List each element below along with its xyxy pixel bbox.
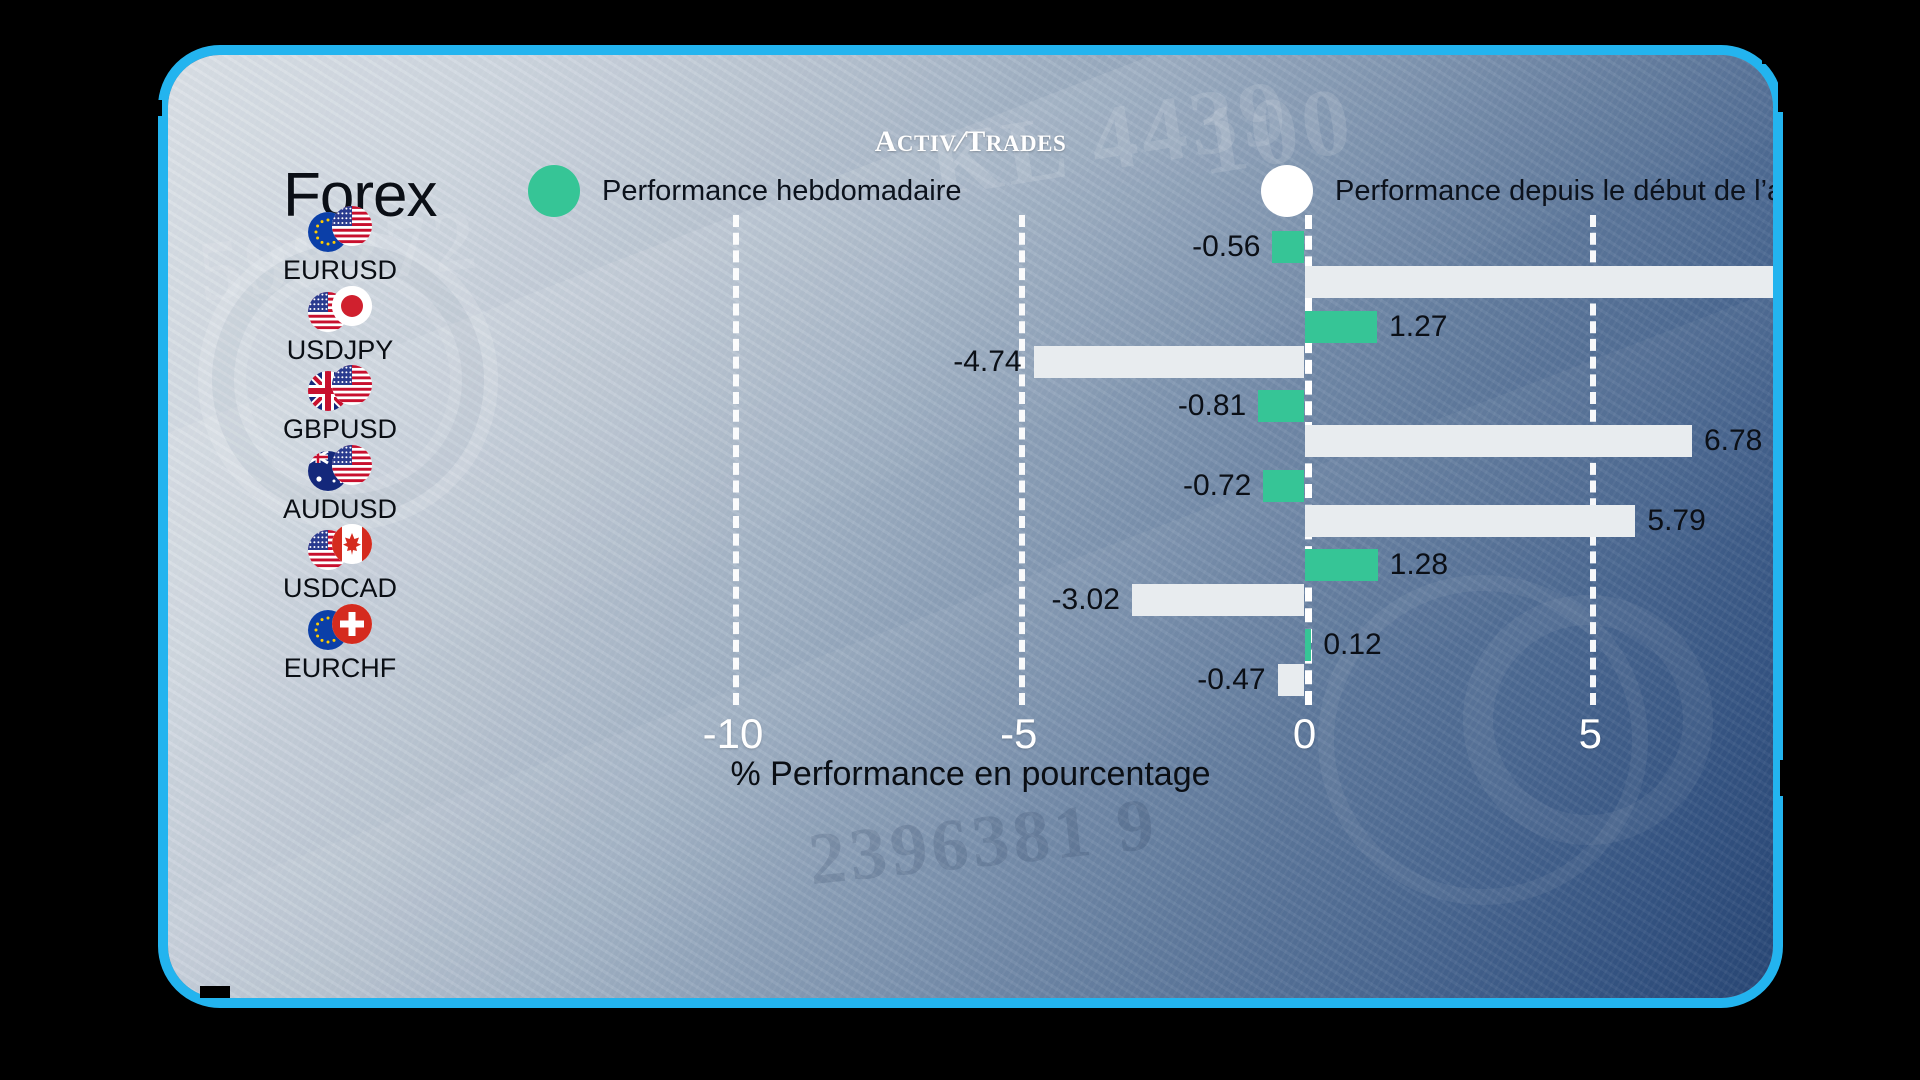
edge-artifact <box>1778 64 1796 112</box>
bar-weekly-eurchf <box>1305 629 1312 661</box>
bar-ytd-eurchf <box>1278 664 1305 696</box>
category-label-audusd: AUDUSD <box>283 494 397 525</box>
flag-pair-usdcad <box>308 524 372 570</box>
bar-ytd-usdcad <box>1132 584 1305 616</box>
card-inner: 598272 KL 4439 100 2396381 9 ACTIV/TRADE… <box>168 55 1773 998</box>
edge-artifact <box>140 100 162 116</box>
category-label-eurchf: EURCHF <box>284 653 397 684</box>
bar-weekly-gbpusd <box>1258 390 1304 422</box>
bar-value-weekly-usdjpy: 1.27 <box>1389 311 1447 343</box>
flag-pair-usdjpy <box>308 286 372 332</box>
flag-pair-gbpusd <box>308 365 372 411</box>
flag-jp-icon <box>332 286 372 326</box>
bar-ytd-usdjpy <box>1034 346 1305 378</box>
flag-us-icon <box>332 206 372 246</box>
bar-value-weekly-eurusd: -0.56 <box>1192 231 1260 263</box>
flag-us-icon <box>332 445 372 485</box>
bar-ytd-audusd <box>1305 505 1636 537</box>
flag-pair-eurchf <box>308 604 372 650</box>
bar-weekly-audusd <box>1263 470 1304 502</box>
edge-artifact <box>200 986 230 998</box>
flag-ch-icon <box>332 604 372 644</box>
bar-value-weekly-gbpusd: -0.81 <box>1178 390 1246 422</box>
bar-value-weekly-usdcad: 1.28 <box>1390 549 1448 581</box>
bar-value-weekly-audusd: -0.72 <box>1183 470 1251 502</box>
category-label-usdjpy: USDJPY <box>287 335 394 366</box>
category-label-usdcad: USDCAD <box>283 573 397 604</box>
chart-card: 598272 KL 4439 100 2396381 9 ACTIV/TRADE… <box>158 45 1783 1008</box>
plot-area: -10-505101520-0.5612.83EURUSD1.27-4.74US… <box>168 55 1773 998</box>
bar-ytd-eurusd <box>1305 266 1774 298</box>
bar-value-ytd-gbpusd: 6.78 <box>1704 425 1762 457</box>
bar-value-ytd-eurchf: -0.47 <box>1197 664 1265 696</box>
bar-value-ytd-usdcad: -3.02 <box>1052 584 1120 616</box>
edge-artifact <box>1780 760 1796 796</box>
bar-value-weekly-eurchf: 0.12 <box>1323 629 1381 661</box>
chart-content: ACTIV/TRADES Forex Performance hebdomada… <box>168 55 1773 998</box>
flag-ca-icon <box>332 524 372 564</box>
category-label-eurusd: EURUSD <box>283 255 397 286</box>
gridline <box>733 215 739 705</box>
x-tick-label: 5 <box>1579 710 1602 758</box>
x-tick-label: -5 <box>1000 710 1037 758</box>
x-axis-title: % Performance en pourcentage <box>730 755 1210 794</box>
bar-value-ytd-audusd: 5.79 <box>1647 505 1705 537</box>
bar-weekly-eurusd <box>1272 231 1304 263</box>
flag-pair-audusd <box>308 445 372 491</box>
flag-us-icon <box>332 365 372 405</box>
flag-pair-eurusd <box>308 206 372 252</box>
edge-artifact <box>1762 52 1796 64</box>
bar-value-ytd-usdjpy: -4.74 <box>953 346 1021 378</box>
bar-weekly-usdjpy <box>1305 311 1378 343</box>
edge-artifact <box>150 60 164 74</box>
category-label-gbpusd: GBPUSD <box>283 414 397 445</box>
gridline <box>1019 215 1025 705</box>
bar-weekly-usdcad <box>1305 549 1378 581</box>
x-tick-label: -10 <box>703 710 764 758</box>
bar-ytd-gbpusd <box>1305 425 1692 457</box>
x-tick-label: 0 <box>1293 710 1316 758</box>
